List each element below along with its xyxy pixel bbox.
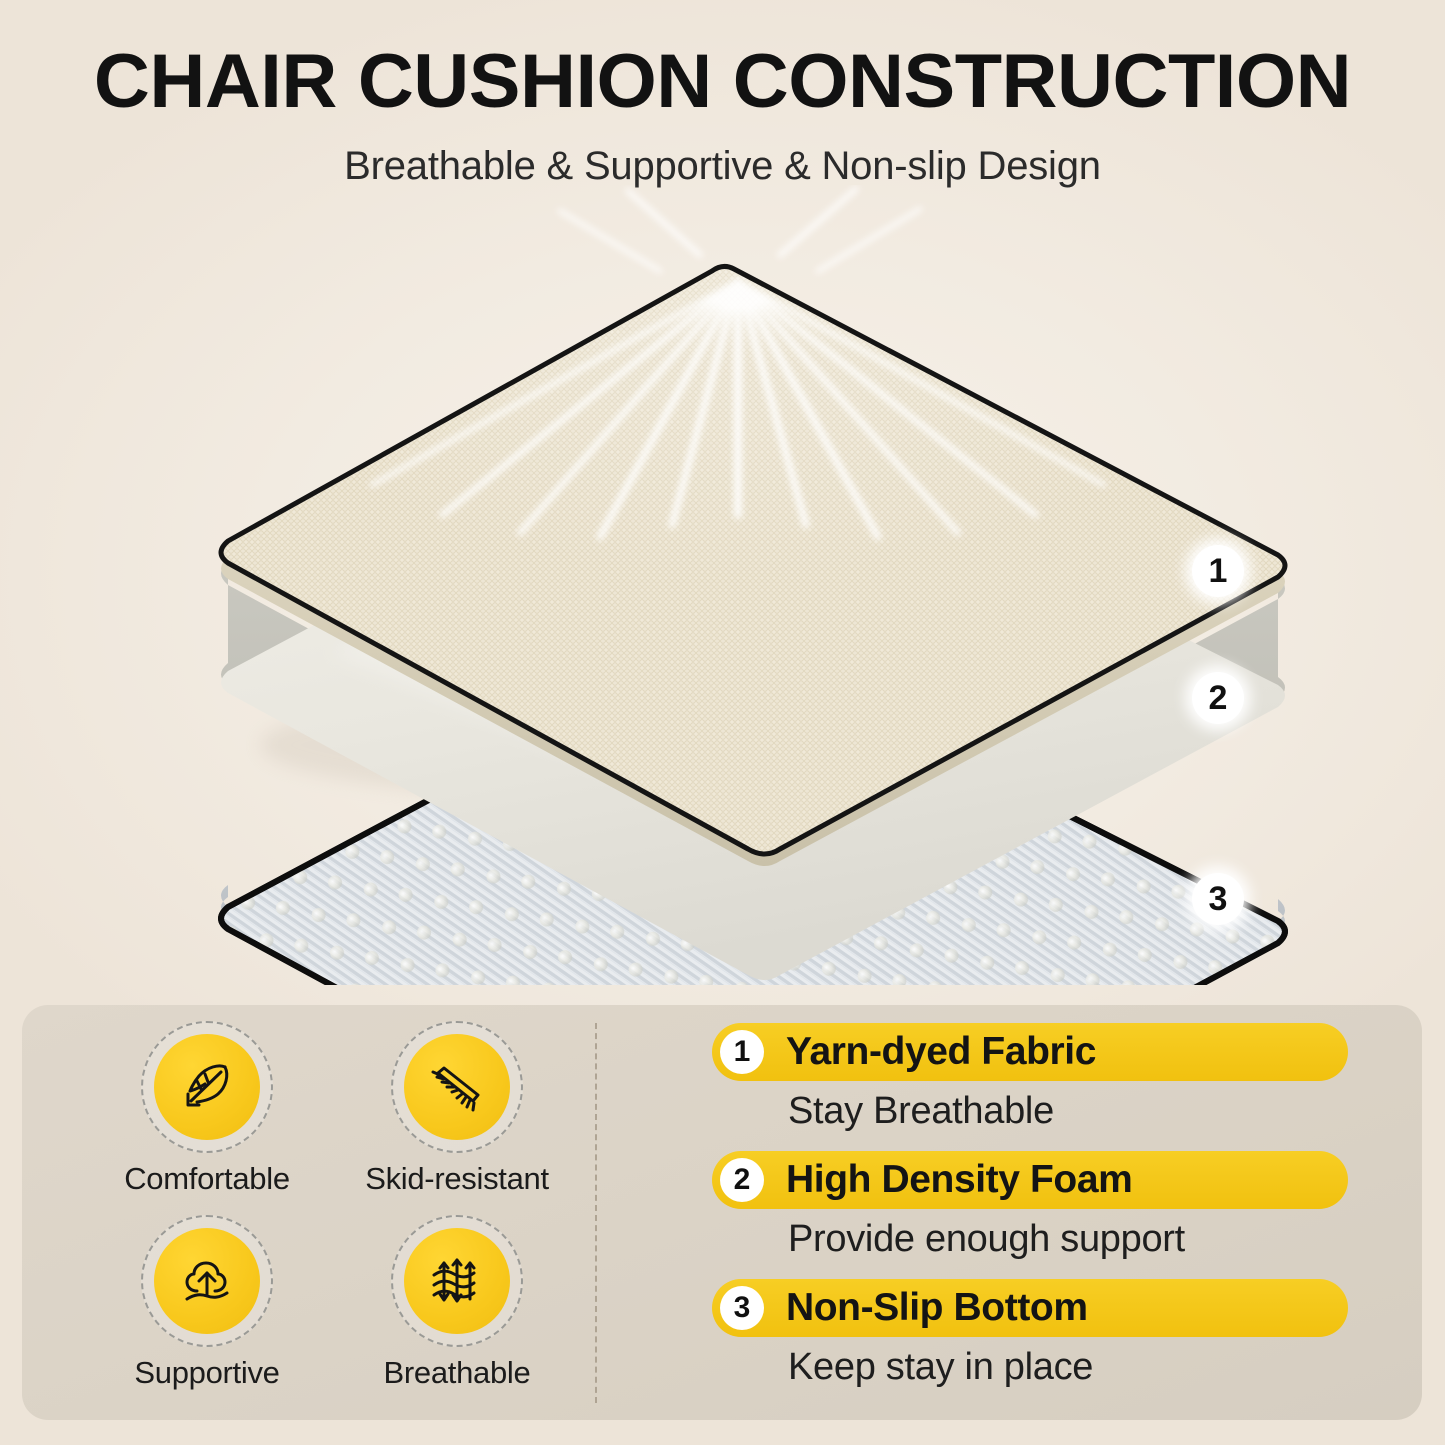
spec-subtitle: Provide enough support bbox=[788, 1218, 1382, 1261]
spec-item-3: 3 Non-Slip Bottom Keep stay in place bbox=[712, 1279, 1382, 1389]
spec-pill: 1 Yarn-dyed Fabric bbox=[712, 1023, 1348, 1081]
icon-dashed-ring bbox=[141, 1215, 273, 1347]
spec-item-1: 1 Yarn-dyed Fabric Stay Breathable bbox=[712, 1023, 1382, 1133]
feature-comfortable: Comfortable bbox=[82, 1021, 332, 1197]
feature-skid-resistant: Skid-resistant bbox=[332, 1021, 582, 1197]
spec-number-badge: 3 bbox=[720, 1286, 764, 1330]
brush-bristles-icon bbox=[404, 1034, 510, 1140]
feature-label: Comfortable bbox=[124, 1161, 290, 1197]
info-card: Comfortable Skid-resistant bbox=[22, 1005, 1422, 1420]
vertical-dashed-divider bbox=[595, 1023, 597, 1403]
spec-list: 1 Yarn-dyed Fabric Stay Breathable 2 Hig… bbox=[712, 1023, 1382, 1407]
page-title: CHAIR CUSHION CONSTRUCTION bbox=[0, 44, 1445, 120]
feature-label: Supportive bbox=[134, 1355, 279, 1391]
spec-title: High Density Foam bbox=[786, 1158, 1132, 1202]
spec-pill: 3 Non-Slip Bottom bbox=[712, 1279, 1348, 1337]
spec-subtitle: Keep stay in place bbox=[788, 1346, 1382, 1389]
layer-badge-3: 3 bbox=[1192, 873, 1244, 925]
airflow-arrows-icon bbox=[404, 1228, 510, 1334]
spec-title: Non-Slip Bottom bbox=[786, 1286, 1088, 1330]
icon-dashed-ring bbox=[391, 1215, 523, 1347]
spec-title: Yarn-dyed Fabric bbox=[786, 1030, 1096, 1074]
spec-number-badge: 2 bbox=[720, 1158, 764, 1202]
infographic-page: CHAIR CUSHION CONSTRUCTION Breathable & … bbox=[0, 0, 1445, 1445]
spec-item-2: 2 High Density Foam Provide enough suppo… bbox=[712, 1151, 1382, 1261]
spec-subtitle: Stay Breathable bbox=[788, 1090, 1382, 1133]
icon-dashed-ring bbox=[391, 1021, 523, 1153]
spec-pill: 2 High Density Foam bbox=[712, 1151, 1348, 1209]
feature-label: Breathable bbox=[384, 1355, 531, 1391]
feather-icon bbox=[154, 1034, 260, 1140]
layer-badge-1: 1 bbox=[1192, 545, 1244, 597]
feature-supportive: Supportive bbox=[82, 1215, 332, 1391]
feature-label: Skid-resistant bbox=[365, 1161, 549, 1197]
header: CHAIR CUSHION CONSTRUCTION Breathable & … bbox=[0, 0, 1445, 189]
icon-dashed-ring bbox=[141, 1021, 273, 1153]
feature-breathable: Breathable bbox=[332, 1215, 582, 1391]
exploded-view-illustration: 1 2 3 bbox=[0, 185, 1445, 985]
top-glow-rays bbox=[560, 189, 920, 271]
page-subtitle: Breathable & Supportive & Non-slip Desig… bbox=[0, 144, 1445, 189]
spec-number-badge: 1 bbox=[720, 1030, 764, 1074]
layer-badge-2: 2 bbox=[1192, 672, 1244, 724]
cushion-cloud-arrow-icon bbox=[154, 1228, 260, 1334]
feature-grid: Comfortable Skid-resistant bbox=[82, 1021, 582, 1391]
